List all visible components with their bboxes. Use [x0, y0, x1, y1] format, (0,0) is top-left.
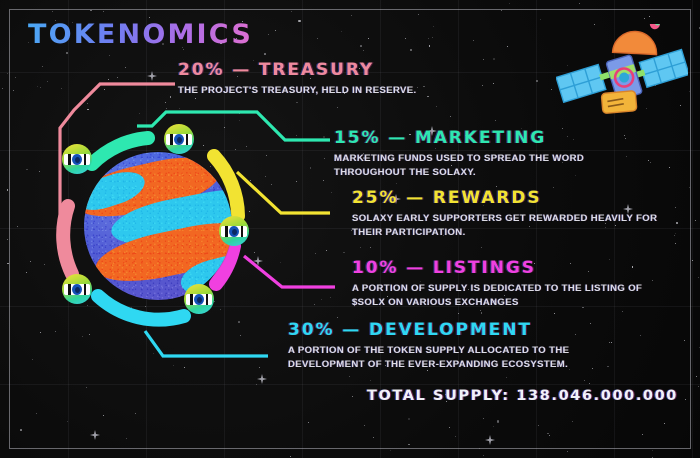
- alien-token-icon: [164, 124, 194, 154]
- alien-token-icon: [184, 284, 214, 314]
- satellite-dish: [613, 30, 658, 54]
- ring-segment-treasury: [63, 206, 72, 274]
- legend-description: MARKETING FUNDS USED TO SPREAD THE WORD …: [334, 152, 584, 180]
- alien-token-icon: [62, 144, 92, 174]
- planet-noise-texture: [84, 152, 232, 300]
- total-supply-label: TOTAL SUPPLY: 138.046.000.000: [367, 388, 678, 404]
- legend-heading: 15% — MARKETING: [334, 130, 584, 148]
- planet-illustration: [84, 152, 232, 300]
- solar-panel-right: [639, 50, 688, 88]
- ring-segment-development: [98, 296, 184, 320]
- legend-description: SOLAXY EARLY SUPPORTERS GET REWARDED HEA…: [352, 212, 657, 240]
- alien-token-icon: [62, 274, 92, 304]
- legend-item-development: 30% — DEVELOPMENT A PORTION OF THE TOKEN…: [288, 322, 569, 372]
- legend-description: A PORTION OF SUPPLY IS DEDICATED TO THE …: [352, 282, 642, 310]
- legend-description: A PORTION OF THE TOKEN SUPPLY ALLOCATED …: [288, 344, 569, 372]
- legend-item-listings: 10% — LISTINGS A PORTION OF SUPPLY IS DE…: [352, 260, 642, 310]
- legend-item-treasury: 20% — TREASURY THE PROJECT'S TREASURY, H…: [178, 62, 417, 98]
- satellite-icon: [556, 24, 688, 124]
- legend-item-marketing: 15% — MARKETING MARKETING FUNDS USED TO …: [334, 130, 584, 180]
- alien-token-icon: [219, 216, 249, 246]
- legend-description: THE PROJECT'S TREASURY, HELD IN RESERVE.: [178, 84, 417, 98]
- tokenomics-donut-chart: [36, 108, 276, 348]
- solar-panel-left: [556, 65, 606, 103]
- legend-heading: 20% — TREASURY: [178, 62, 417, 80]
- legend-heading: 25% — REWARDS: [352, 190, 657, 208]
- legend-heading: 10% — LISTINGS: [352, 260, 642, 278]
- legend-item-rewards: 25% — REWARDS SOLAXY EARLY SUPPORTERS GE…: [352, 190, 657, 240]
- legend-heading: 30% — DEVELOPMENT: [288, 322, 569, 340]
